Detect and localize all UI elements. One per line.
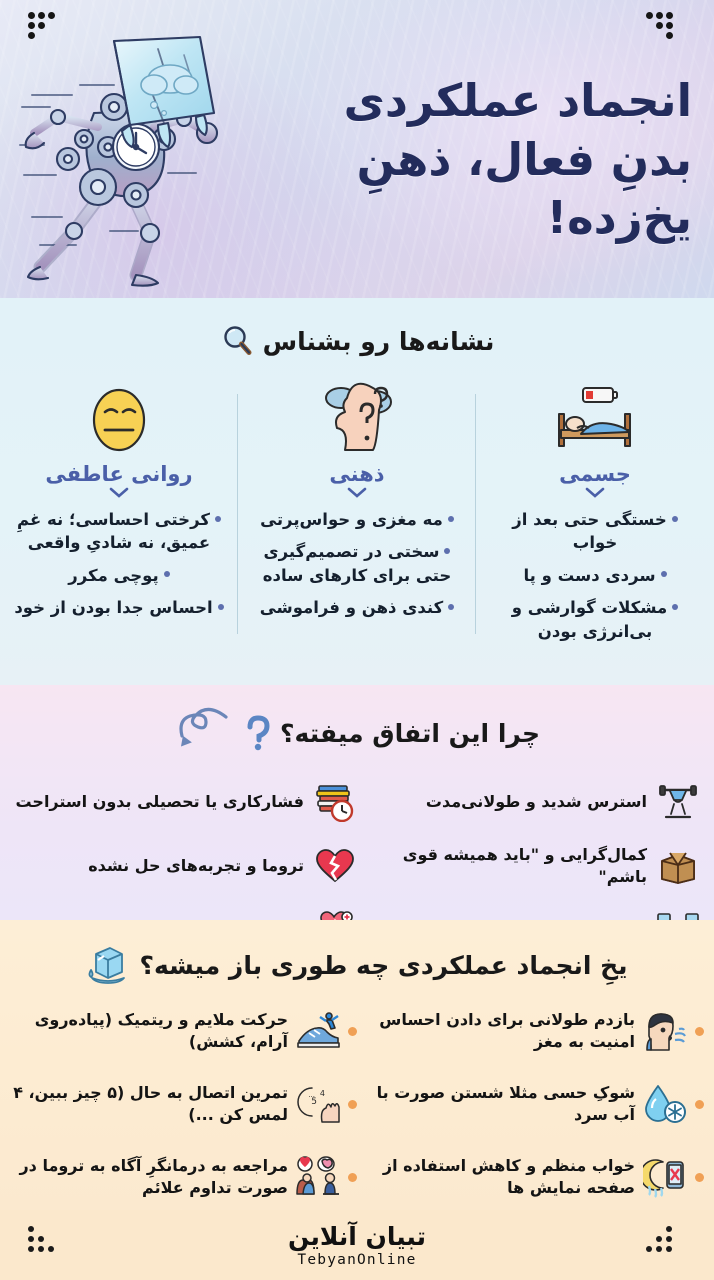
bullet-icon [695,1100,704,1109]
list-item: خواب منظم و کاهش استفاده از صفحه نمایش ه… [357,1148,704,1206]
unfreeze-column-right: بازدم طولانی برای دادن احساس امنیت به مغ… [357,1002,704,1221]
list-item: کرختی احساسی؛ نه غمِ عمیق، نه شادیِ واقع… [8,508,230,555]
list-item-text: مشکلات گوارشی و بی‌انرژی بودن [512,598,667,640]
head-with-clouds-question-icon [246,380,468,454]
bullet-icon [448,604,454,610]
svg-text:4: 4 [320,1089,325,1098]
hero-banner: انجماد عملکردی بدنِ فعال، ذهنِ یخ‌زده! [0,0,714,298]
symptom-column-physical: جسمی خستگی حتی بعد از خواب سردی دست و پا… [476,380,714,680]
list-item: سختی در تصمیم‌گیری حتی برای کارهای ساده [246,540,468,587]
chevron-down-icon [347,487,367,498]
symptom-list-mental: مه مغزی و حواس‌پرتی سختی در تصمیم‌گیری ح… [246,508,468,620]
section-unfreeze-title: یخِ انجماد عملکردی چه طوری باز میشه؟ [0,944,714,986]
list-item-text: مه مغزی و حواس‌پرتی [260,510,443,529]
bullet-icon [348,1100,357,1109]
corner-dots-top-left-icon [28,12,68,52]
bullet-icon [448,516,454,522]
unfreeze-column-left: حرکت ملایم و ریتمیک (پیاده‌روی آرام، کشش… [10,1002,357,1221]
cold-water-droplet-icon [642,1081,688,1127]
cardboard-box-icon [656,844,700,888]
list-item: مه مغزی و حواس‌پرتی [246,508,468,531]
melting-ice-cube-icon [86,944,130,986]
symptom-columns: جسمی خستگی حتی بعد از خواب سردی دست و پا… [0,380,714,680]
bullet-icon [672,604,678,610]
infographic-page: انجماد عملکردی بدنِ فعال، ذهنِ یخ‌زده! ن… [0,0,714,1280]
bullet-icon [695,1173,704,1182]
bullet-icon [444,548,450,554]
bullet-icon [661,571,667,577]
corner-dots-bottom-left-icon [28,1226,68,1266]
section-unfreeze: یخِ انجماد عملکردی چه طوری باز میشه؟ [0,920,714,1210]
title-line-2: بدنِ فعال، ذهنِ یخ‌زده! [272,131,692,248]
running-shoe-icon [295,1008,341,1054]
list-item: استرس شدید و طولانی‌مدت [357,777,700,827]
symptom-list-emotional: کرختی احساسی؛ نه غمِ عمیق، نه شادیِ واقع… [8,508,230,620]
bullet-icon [218,604,224,610]
broken-heart-icon [313,844,357,888]
list-item-text: تروما و تجربه‌های حل نشده [88,855,304,877]
bullet-icon [695,1027,704,1036]
section-symptoms-title-text: نشانه‌ها رو بشناس [263,327,495,356]
symptom-column-emotional: روانی عاطفی کرختی احساسی؛ نه غمِ عمیق، ن… [0,380,238,680]
list-item: مشکلات گوارشی و بی‌انرژی بودن [484,596,706,643]
list-item: سردی دست و پا [484,564,706,587]
bullet-icon [672,516,678,522]
section-why: چرا این اتفاق میفته؟ [0,685,714,920]
list-item: شوکِ حسی مثلا شستن صورت با آب سرد [357,1075,704,1133]
list-item: فشارکاری یا تحصیلی بدون استراحت [14,777,357,827]
list-item-text: خستگی حتی بعد از خواب [512,510,666,552]
unfreeze-rows: بازدم طولانی برای دادن احساس امنیت به مغ… [0,1002,714,1221]
section-symptoms-title: نشانه‌ها رو بشناس [0,324,714,358]
question-mark-icon [245,715,271,751]
list-item-text: فشارکاری یا تحصیلی بدون استراحت [15,791,304,813]
list-item: کمال‌گرایی و "باید همیشه قوی باشم" [357,841,700,891]
bullet-icon [348,1173,357,1182]
running-robot-with-ice-cube-head-illustration [18,35,268,290]
list-item: بازدم طولانی برای دادن احساس امنیت به مغ… [357,1002,704,1060]
chevron-down-icon [585,487,605,498]
list-item: مراجعه به درمانگرِ آگاه به تروما در صورت… [10,1148,357,1206]
hand-counting-moon-icon: 5 4 ... [295,1081,341,1127]
list-item-text: بازدم طولانی برای دادن احساس امنیت به مغ… [357,1009,635,1053]
list-item-text: کمال‌گرایی و "باید همیشه قوی باشم" [357,844,647,887]
corner-dots-bottom-right-icon [646,1226,686,1266]
section-symptoms: نشانه‌ها رو بشناس [0,298,714,685]
brand-logo-fa: تبیان آنلاین [288,1222,426,1251]
symptom-column-mental-heading: ذهنی [246,462,468,486]
list-item-text: خواب منظم و کاهش استفاده از صفحه نمایش ه… [357,1155,635,1199]
list-item: حرکت ملایم و ریتمیک (پیاده‌روی آرام، کشش… [10,1002,357,1060]
list-item-text: تمرین اتصال به حال (۵ چیز ببین، ۴ لمس کن… [10,1082,288,1126]
list-item-text: شوکِ حسی مثلا شستن صورت با آب سرد [357,1082,635,1126]
list-item: کندی ذهن و فراموشی [246,596,468,619]
list-item-text: مراجعه به درمانگرِ آگاه به تروما در صورت… [10,1155,288,1199]
books-with-clock-icon [313,780,357,824]
section-why-title-text: چرا این اتفاق میفته؟ [280,719,540,748]
list-item-text: کرختی احساسی؛ نه غمِ عمیق، نه شادیِ واقع… [17,510,210,552]
page-title: انجماد عملکردی بدنِ فعال، ذهنِ یخ‌زده! [272,72,692,248]
list-item-text: کندی ذهن و فراموشی [260,598,443,617]
svg-text:...: ... [308,1091,315,1099]
list-item-text: سختی در تصمیم‌گیری حتی برای کارهای ساده [263,542,451,584]
list-item-text: حرکت ملایم و ریتمیک (پیاده‌روی آرام، کشش… [10,1009,288,1053]
title-line-1: انجماد عملکردی [344,74,692,127]
bullet-icon [348,1027,357,1036]
person-exhaling-breath-icon [642,1008,688,1054]
symptom-column-physical-heading: جسمی [484,462,706,486]
list-item: احساس جدا بودن از خود [8,596,230,619]
corner-dots-top-right-icon [646,12,686,52]
symptom-list-physical: خستگی حتی بعد از خواب سردی دست و پا مشکل… [484,508,706,643]
footer: تبیان آنلاین TebyanOnline [0,1210,714,1280]
list-item: خستگی حتی بعد از خواب [484,508,706,555]
curved-arrow-icon [174,707,232,759]
bullet-icon [164,571,170,577]
moon-phone-off-icon [642,1154,688,1200]
section-unfreeze-title-text: یخِ انجماد عملکردی چه طوری باز میشه؟ [139,951,627,980]
person-in-bed-low-battery-icon [484,380,706,454]
symptom-column-emotional-heading: روانی عاطفی [8,462,230,486]
list-item-text: استرس شدید و طولانی‌مدت [426,791,647,813]
symptom-column-mental: ذهنی مه مغزی و حواس‌پرتی سختی در تصمیم‌گ… [238,380,476,680]
list-item-text: پوچی مکرر [68,566,158,585]
bullet-icon [215,516,221,522]
magnifying-glass-icon [220,324,254,358]
list-item: 5 4 ... تمرین اتصال به حال (۵ چیز ببین، … [10,1075,357,1133]
list-item: پوچی مکرر [8,564,230,587]
therapy-session-icon [295,1154,341,1200]
weightlifter-icon [656,780,700,824]
list-item-text: احساس جدا بودن از خود [14,598,212,617]
chevron-down-icon [109,487,129,498]
brand-logo-en: TebyanOnline [297,1252,416,1268]
list-item-text: سردی دست و پا [523,566,655,585]
expressionless-face-icon [8,380,230,454]
section-why-title: چرا این اتفاق میفته؟ [0,707,714,759]
list-item: تروما و تجربه‌های حل نشده [14,841,357,891]
